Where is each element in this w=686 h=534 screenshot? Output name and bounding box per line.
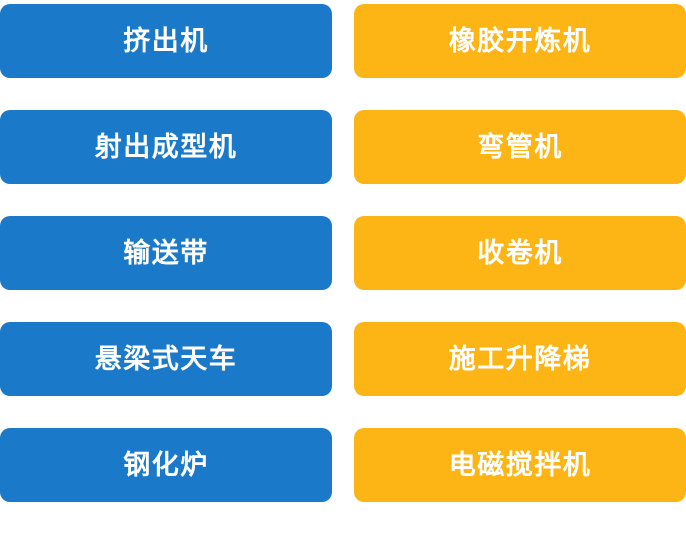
button-conveyor-belt[interactable]: 输送带 [0,216,332,290]
button-injection-molding-machine[interactable]: 射出成型机 [0,110,332,184]
button-label: 施工升降梯 [449,346,592,373]
button-label: 电磁搅拌机 [449,452,592,479]
button-label: 挤出机 [123,28,209,55]
button-label: 射出成型机 [95,134,238,161]
button-rewinder[interactable]: 收卷机 [354,216,686,290]
button-label: 弯管机 [477,134,563,161]
button-overhead-crane[interactable]: 悬梁式天车 [0,322,332,396]
button-construction-hoist[interactable]: 施工升降梯 [354,322,686,396]
button-label: 输送带 [123,240,209,267]
button-electromagnetic-stirrer[interactable]: 电磁搅拌机 [354,428,686,502]
right-column: 橡胶开炼机 弯管机 收卷机 施工升降梯 电磁搅拌机 [354,0,686,534]
button-rubber-mixing-mill[interactable]: 橡胶开炼机 [354,4,686,78]
button-extruder[interactable]: 挤出机 [0,4,332,78]
button-label: 悬梁式天车 [95,346,238,373]
button-label: 钢化炉 [123,452,209,479]
button-tempering-furnace[interactable]: 钢化炉 [0,428,332,502]
button-grid: 挤出机 射出成型机 输送带 悬梁式天车 钢化炉 橡胶开炼机 弯管机 收卷机 施工… [0,0,686,506]
left-column: 挤出机 射出成型机 输送带 悬梁式天车 钢化炉 [0,0,332,534]
button-pipe-bender[interactable]: 弯管机 [354,110,686,184]
button-label: 收卷机 [477,240,563,267]
button-label: 橡胶开炼机 [449,28,592,55]
